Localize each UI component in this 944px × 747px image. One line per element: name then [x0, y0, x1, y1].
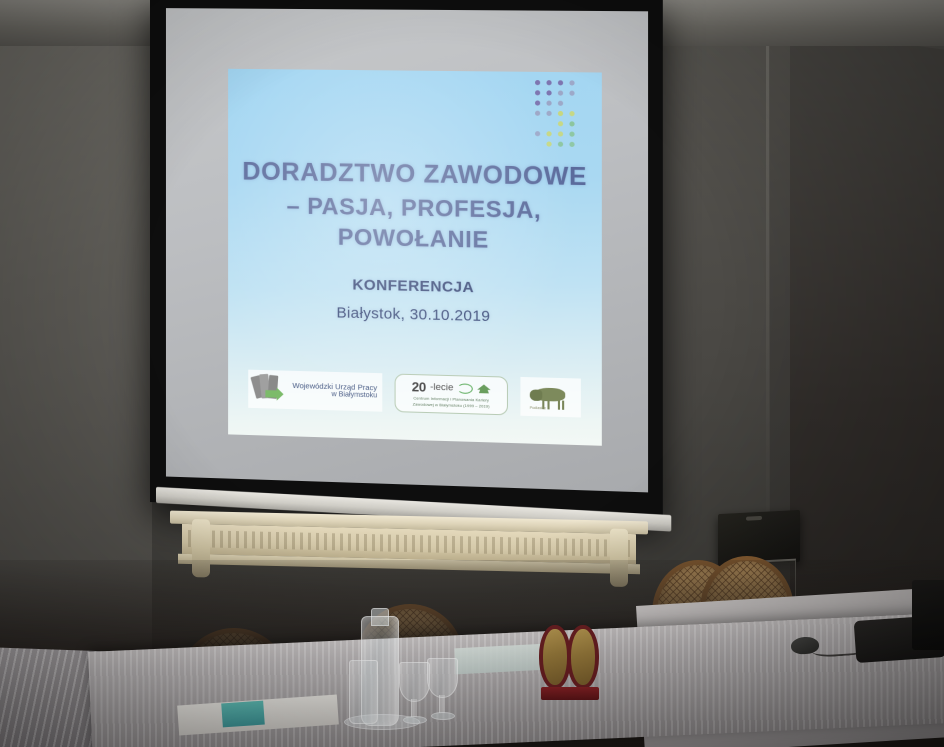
tree-icon: [477, 384, 490, 394]
slide-title-line2: – PASJA, PROFESJA, POWOŁANIE: [228, 189, 602, 258]
bison-icon: Podlaskie: [530, 384, 572, 410]
booklet-accent-band: [221, 701, 265, 728]
wojewodzki-urzad-pracy-logo: Wojewódzki Urząd Pracy w Białymstoku: [248, 370, 382, 412]
projection-screen: DORADZTWO ZAWODOWE – PASJA, PROFESJA, PO…: [150, 0, 663, 520]
dark-equipment: [912, 580, 944, 650]
podlaskie-bison-logo: Podlaskie: [520, 377, 580, 418]
anniversary-fine-line2: Zawodowej w Białymstoku (1999 – 2019): [413, 401, 490, 409]
slide-date: Białystok, 30.10.2019: [228, 302, 602, 328]
anniversary-fineprint: Centrum Informacji i Planowania Kariery …: [413, 396, 490, 410]
recycle-loop-icon: [458, 383, 473, 394]
screen-surface: DORADZTWO ZAWODOWE – PASJA, PROFESJA, PO…: [166, 8, 648, 492]
anniversary-logo: 20 -lecie Centrum Informacji i Planowani…: [395, 374, 508, 416]
drinking-glass: [349, 660, 378, 724]
logo-strip: Wojewódzki Urząd Pracy w Białymstoku 20 …: [240, 366, 589, 420]
slide-title: DORADZTWO ZAWODOWE – PASJA, PROFESJA, PO…: [228, 155, 602, 258]
presentation-slide: DORADZTWO ZAWODOWE – PASJA, PROFESJA, PO…: [228, 69, 602, 446]
dot-matrix-decoration: [535, 80, 585, 160]
slide-title-line1: DORADZTWO ZAWODOWE: [242, 157, 587, 191]
wup-line2: w Białymstoku: [292, 390, 377, 401]
podlaskie-label: Podlaskie: [530, 406, 546, 411]
wup-fan-icon: [253, 374, 287, 405]
anniversary-headline: 20 -lecie: [412, 379, 491, 396]
conference-room-photo: DORADZTWO ZAWODOWE – PASJA, PROFESJA, PO…: [0, 0, 944, 747]
anniversary-number: 20: [412, 379, 426, 395]
anniversary-suffix: -lecie: [430, 382, 453, 394]
wup-logo-text: Wojewódzki Urząd Pracy w Białymstoku: [292, 381, 377, 402]
wooden-award-trophy: [535, 625, 603, 701]
slide-subtitle: KONFERENCJA: [228, 274, 602, 299]
